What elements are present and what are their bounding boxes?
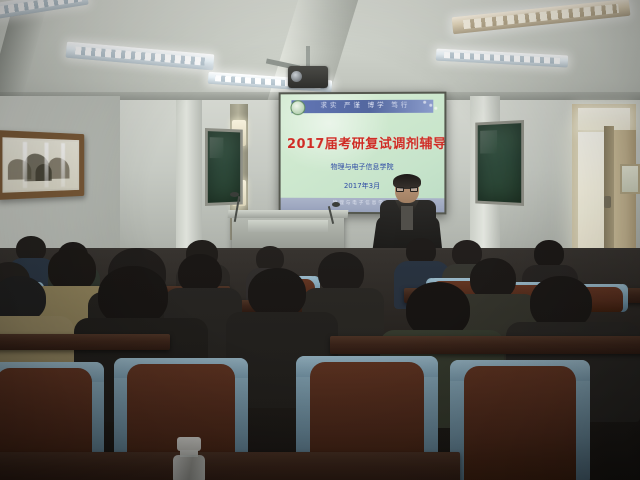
water-bottle[interactable] [172, 437, 206, 480]
desk-row-nearest [0, 452, 460, 480]
screen-corner-marks [424, 101, 438, 110]
classroom-photo: 求实 严谨 博学 笃行 2017届考研复试调剂辅导会 物理与电子信息学院 201… [0, 0, 640, 480]
desk-row-near [0, 334, 170, 350]
projector-icon [288, 58, 328, 88]
ceiling-light-2 [66, 42, 215, 71]
slide-banner-text: 求实 严谨 博学 笃行 [316, 100, 414, 112]
auditorium-seat-foreground[interactable] [450, 360, 590, 480]
chalkboard-right [475, 120, 524, 206]
ceiling-light-4 [452, 0, 631, 34]
desk-row-near [330, 336, 640, 354]
bottle-cap [177, 437, 201, 451]
door-handle[interactable] [604, 196, 611, 208]
framed-landscape-painting [0, 130, 84, 200]
eyeglasses-icon [396, 187, 418, 192]
ceiling-light-5 [436, 49, 568, 68]
slide-subtitle: 物理与电子信息学院 [287, 162, 438, 172]
microphone-icon [230, 192, 239, 197]
lectern-panel [248, 220, 328, 232]
slide-title: 2017届考研复试调剂辅导会 [287, 133, 438, 152]
side-window [620, 164, 640, 194]
microphone-icon-2 [332, 202, 340, 207]
